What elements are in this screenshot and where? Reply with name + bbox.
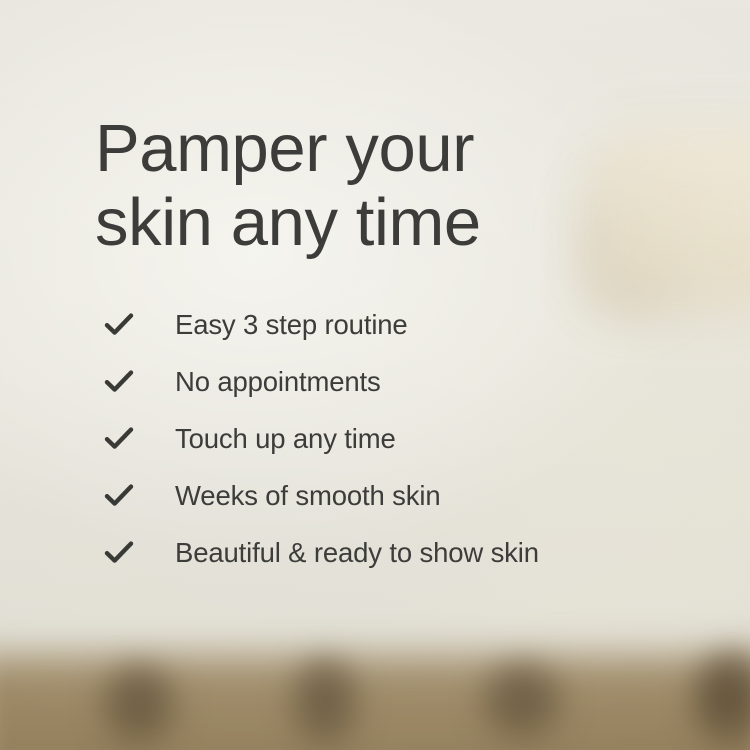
headline: Pamper your skin any time xyxy=(95,112,655,260)
list-item-label: Easy 3 step routine xyxy=(175,311,408,339)
list-item-label: Touch up any time xyxy=(175,425,396,453)
promo-graphic: Pamper your skin any time Easy 3 step ro… xyxy=(0,0,750,750)
benefits-checklist: Easy 3 step routine No appointments Touc… xyxy=(104,296,704,581)
check-icon xyxy=(104,312,146,338)
list-item: Touch up any time xyxy=(104,410,704,467)
list-item-label: Beautiful & ready to show skin xyxy=(175,539,539,567)
check-icon xyxy=(104,369,146,395)
list-item: No appointments xyxy=(104,353,704,410)
list-item: Easy 3 step routine xyxy=(104,296,704,353)
list-item: Weeks of smooth skin xyxy=(104,467,704,524)
check-icon xyxy=(104,540,146,566)
content-area: Pamper your skin any time Easy 3 step ro… xyxy=(0,0,750,750)
check-icon xyxy=(104,426,146,452)
list-item-label: Weeks of smooth skin xyxy=(175,482,441,510)
list-item: Beautiful & ready to show skin xyxy=(104,524,704,581)
check-icon xyxy=(104,483,146,509)
list-item-label: No appointments xyxy=(175,368,381,396)
